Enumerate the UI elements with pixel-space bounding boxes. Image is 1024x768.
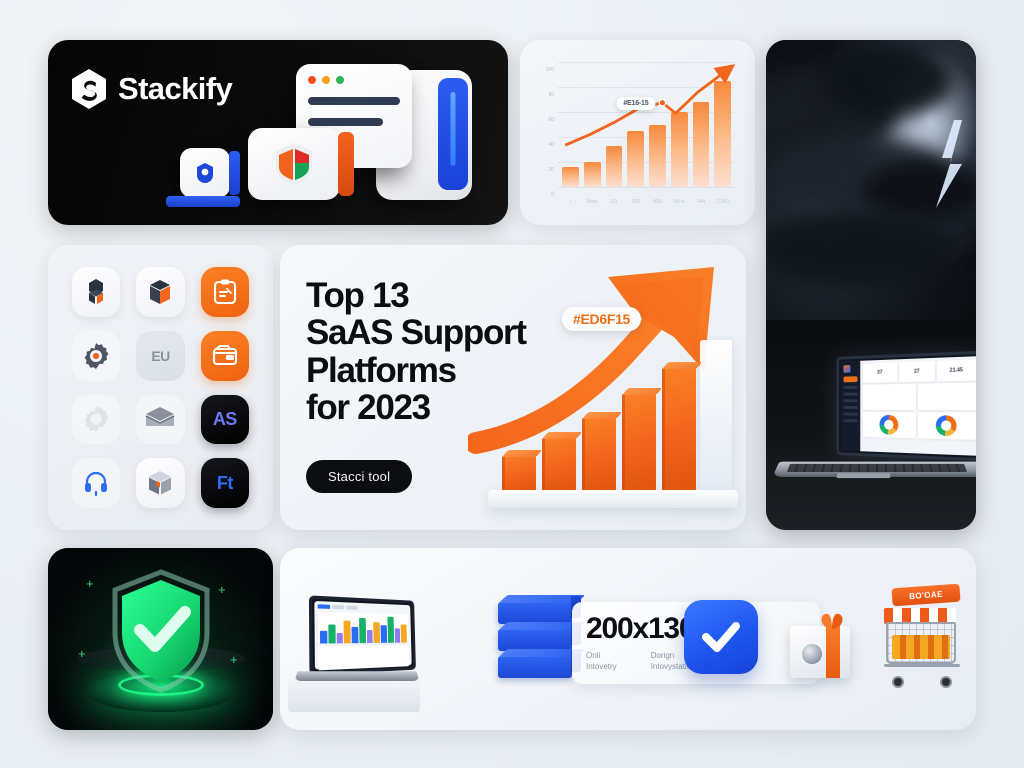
x-axis-ticks: IMars1/3268405I90 A94411W0 <box>558 199 735 205</box>
headset-icon[interactable] <box>72 458 120 508</box>
hex-color-tag: #ED6F15 <box>562 307 641 331</box>
cart-wheel <box>940 676 952 688</box>
storm-laptop: 37 27 21.45 <box>776 356 976 496</box>
hero-bar <box>542 438 576 490</box>
mini-bar <box>344 620 351 643</box>
ft-badge[interactable]: Ft <box>201 458 249 508</box>
glass-bar <box>700 340 732 490</box>
chart-plot-area: #E16-15 <box>558 62 735 187</box>
list-widget <box>918 383 976 411</box>
hero-bar-chart <box>502 340 734 490</box>
cube-box-icon[interactable] <box>136 458 184 508</box>
laptop-screen: 37 27 21.45 <box>837 351 976 462</box>
stackify-hex-logo <box>70 68 108 110</box>
laptop-keyboard-base <box>772 462 976 477</box>
red-dot <box>308 76 316 84</box>
y-axis-ticks: 020406080100 <box>534 62 556 187</box>
window-line-2 <box>308 118 383 126</box>
app-logo <box>843 365 850 373</box>
cart-sign-label: BO'OAE <box>891 584 960 607</box>
y-tick: 20 <box>548 167 554 173</box>
x-tick: 11W0 <box>714 199 731 205</box>
gear-outline-icon[interactable] <box>72 395 120 445</box>
hero-card[interactable]: Top 13 SaAS Support Platforms for 2023 S… <box>280 245 746 530</box>
stackify-banner-card[interactable]: Stackify <box>48 40 508 225</box>
blue-check-cube <box>684 600 758 674</box>
laptop-screen <box>309 595 416 675</box>
chart-inner: 020406080100 #E16-15 IMars1/3268405I90 A… <box>534 54 741 211</box>
y-tick: 80 <box>548 92 554 98</box>
donut-widget-2 <box>918 412 976 440</box>
cart-wheel <box>892 676 904 688</box>
mini-bar <box>394 628 400 642</box>
storm-laptop-card[interactable]: 37 27 21.45 <box>766 40 976 530</box>
x-tick: 90 A <box>671 199 688 205</box>
storm-sky <box>766 40 976 340</box>
x-tick: Mars <box>584 199 601 205</box>
lightning-bolt-icon <box>932 118 968 210</box>
hero-bar <box>502 456 536 490</box>
analytics-dashboard <box>314 601 411 670</box>
table-widget <box>863 384 916 410</box>
mini-bar <box>381 625 387 643</box>
donut-chart <box>879 415 898 435</box>
x-tick: 268 <box>627 199 644 205</box>
y-tick: 40 <box>548 142 554 148</box>
ft-label: Ft <box>217 473 233 494</box>
settings-chip-tile <box>180 148 230 198</box>
mail-stack-icon[interactable] <box>136 395 184 445</box>
mini-bar <box>373 622 380 643</box>
analytics-laptop <box>296 602 422 684</box>
open-box-icon[interactable] <box>136 267 184 317</box>
icon-grid: EU <box>72 267 249 508</box>
sidebar-active-item <box>843 376 857 382</box>
donut-widget <box>863 412 916 438</box>
blue-slab <box>438 78 468 190</box>
mini-bar <box>320 631 327 644</box>
stackify-logo-group: Stackify <box>70 68 232 110</box>
eu-label: EU <box>151 348 169 364</box>
y-tick: 100 <box>546 67 554 73</box>
growth-chart-card[interactable]: 020406080100 #E16-15 IMars1/3268405I90 A… <box>520 40 755 225</box>
chart-bar <box>562 167 579 187</box>
mini-bar <box>328 625 335 644</box>
y-tick: 0 <box>551 192 554 198</box>
hero-bar <box>622 394 656 490</box>
clipboard-icon[interactable] <box>201 267 249 317</box>
chip-base <box>166 196 240 207</box>
status-badge[interactable]: Stacci tool <box>306 460 412 493</box>
dashboard-sidebar <box>841 361 860 451</box>
hero-plinth <box>488 490 738 508</box>
laptop-keys <box>787 464 967 472</box>
green-dot <box>336 76 344 84</box>
sub-label-left: Onli Intovetry <box>586 651 617 673</box>
mini-bar <box>336 632 343 643</box>
collage-canvas: Stackify <box>0 0 1024 768</box>
hero-bar <box>582 418 616 490</box>
dashboard-ui: 37 27 21.45 <box>841 356 976 456</box>
as-badge[interactable]: AS <box>201 395 249 445</box>
mini-bar <box>401 624 407 643</box>
server-stack-icon <box>498 597 572 678</box>
gear-dot-icon[interactable] <box>72 331 120 381</box>
icon-grid-card[interactable]: EU <box>48 245 273 530</box>
y-tick: 60 <box>548 117 554 123</box>
window-dots <box>308 76 400 84</box>
hero-bar <box>662 368 696 490</box>
as-label: AS <box>213 409 237 430</box>
x-tick: I <box>562 199 579 205</box>
chart-trend-line <box>558 62 735 168</box>
x-tick: 944 <box>693 199 710 205</box>
security-shield-card[interactable]: + + + + <box>48 548 273 730</box>
wallet-icon[interactable] <box>201 331 249 381</box>
amber-dot <box>322 76 330 84</box>
donut-chart <box>936 415 957 436</box>
gift-box-icon <box>790 626 850 678</box>
shopping-cart-icon: BO'OAE <box>878 580 970 690</box>
kpi-card: 37 <box>863 362 897 383</box>
eu-text-icon[interactable]: EU <box>136 331 184 381</box>
mini-bar <box>359 617 366 643</box>
colorful-shield-tile <box>248 128 340 200</box>
cart-goods <box>892 635 950 659</box>
bar-chart-widget <box>318 612 409 644</box>
laptop-trackpad <box>836 473 890 478</box>
cart-basket <box>886 622 956 664</box>
window-line-1 <box>308 97 400 105</box>
x-tick: 1/3 <box>606 199 623 205</box>
kpi-card: 27 <box>899 361 935 382</box>
shield-check-icon <box>107 568 215 694</box>
mini-bar <box>387 617 393 643</box>
gift-bow <box>816 611 848 631</box>
kpi-card: 21.45 <box>937 359 976 381</box>
ecommerce-assets-card[interactable]: 200x1300 Onli Intovetry Dorign Intovysta… <box>280 548 976 730</box>
bar-chart-widget-2 <box>318 645 409 670</box>
mini-bar <box>366 630 373 643</box>
chart-tooltip: #E16-15 <box>616 97 655 110</box>
cubes-icon[interactable] <box>72 267 120 317</box>
dashboard-main: 37 27 21.45 <box>860 356 976 456</box>
stackify-wordmark: Stackify <box>118 71 232 107</box>
x-tick: 405I <box>649 199 666 205</box>
laptop-base <box>294 671 419 681</box>
mini-bar <box>351 626 358 643</box>
